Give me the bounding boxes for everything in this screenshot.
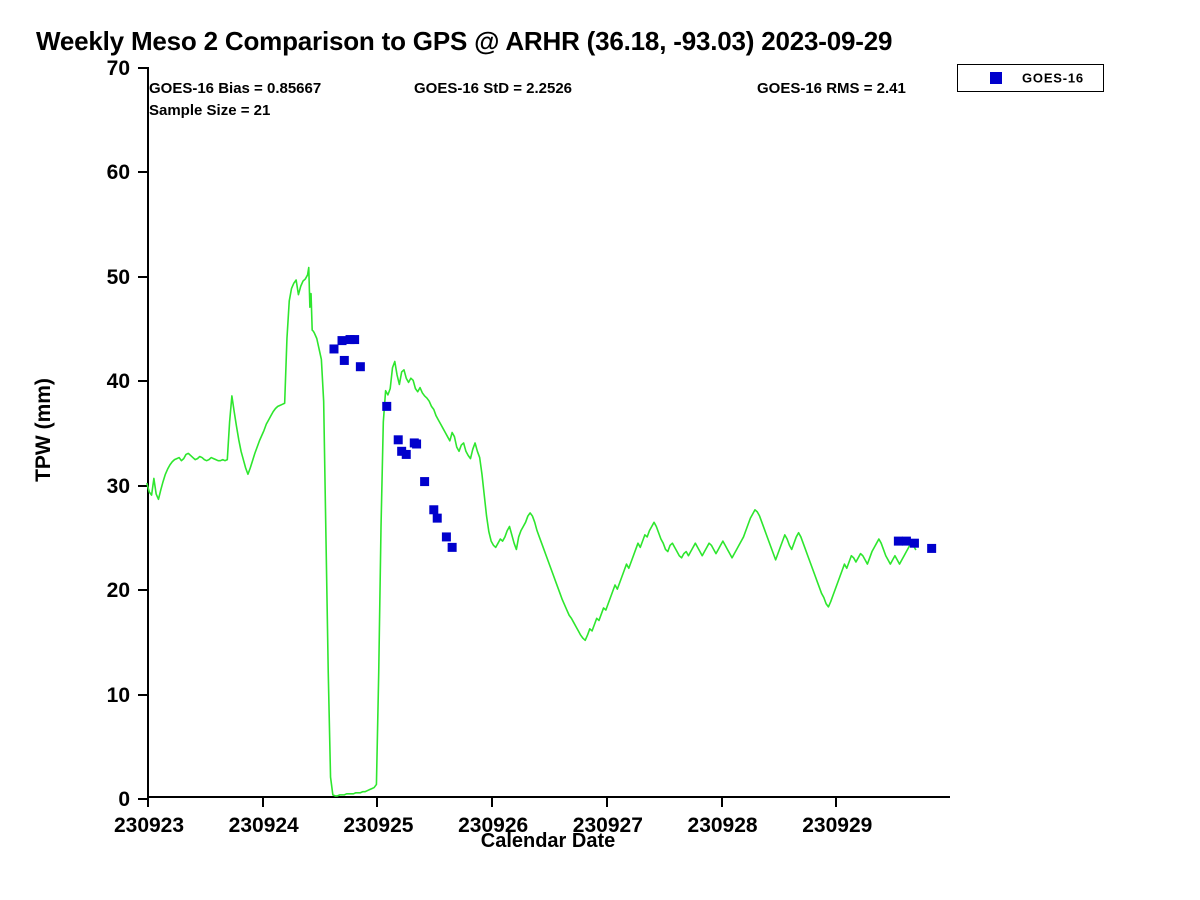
scatter-point [429,505,438,514]
scatter-point [433,514,442,523]
x-tick-label: 230924 [229,814,299,838]
gps-line-series [147,268,916,796]
y-tick-label: 40 [107,370,130,394]
y-tick: 20 [138,589,147,591]
y-tick: 40 [138,380,147,382]
y-tick-label: 70 [107,57,130,81]
x-tick-label: 230923 [114,814,184,838]
legend: GOES-16 [957,64,1104,92]
scatter-point [927,544,936,553]
y-tick-label: 30 [107,475,130,499]
y-tick-label: 0 [118,788,130,812]
series-canvas [147,67,950,798]
x-tick-label: 230927 [573,814,643,838]
x-tick-label: 230928 [688,814,758,838]
legend-label: GOES-16 [1022,71,1084,86]
y-axis-label: TPW (mm) [32,378,56,482]
chart-page: Weekly Meso 2 Comparison to GPS @ ARHR (… [0,0,1200,900]
x-tick-label: 230929 [802,814,872,838]
y-tick: 50 [138,276,147,278]
x-tick: 230924 [262,798,264,807]
y-tick: 60 [138,171,147,173]
x-tick: 230923 [147,798,149,807]
x-tick: 230927 [606,798,608,807]
scatter-point [340,356,349,365]
x-tick-label: 230925 [343,814,413,838]
y-tick-label: 10 [107,684,130,708]
y-tick: 0 [138,798,147,800]
y-tick: 70 [138,67,147,69]
scatter-point [894,537,903,546]
scatter-point [442,532,451,541]
legend-marker-icon [990,72,1002,84]
x-tick: 230926 [491,798,493,807]
plot-area: 010203040506070 230923230924230925230926… [147,67,950,798]
y-tick-label: 50 [107,266,130,290]
y-tick: 10 [138,694,147,696]
scatter-point [356,362,365,371]
scatter-point [420,477,429,486]
scatter-point [329,344,338,353]
scatter-point [350,335,359,344]
goes16-scatter-series [329,335,936,553]
x-tick: 230925 [376,798,378,807]
x-tick: 230928 [721,798,723,807]
x-tick: 230929 [835,798,837,807]
scatter-point [910,539,919,548]
scatter-point [448,543,457,552]
scatter-point [902,537,911,546]
scatter-point [394,435,403,444]
scatter-point [402,450,411,459]
legend-entry-goes16: GOES-16 [958,65,1103,91]
scatter-point [382,402,391,411]
page-title: Weekly Meso 2 Comparison to GPS @ ARHR (… [36,26,892,57]
y-tick: 30 [138,485,147,487]
scatter-point [412,439,421,448]
x-tick-label: 230926 [458,814,528,838]
y-tick-label: 60 [107,161,130,185]
y-tick-label: 20 [107,579,130,603]
scatter-point [338,336,347,345]
